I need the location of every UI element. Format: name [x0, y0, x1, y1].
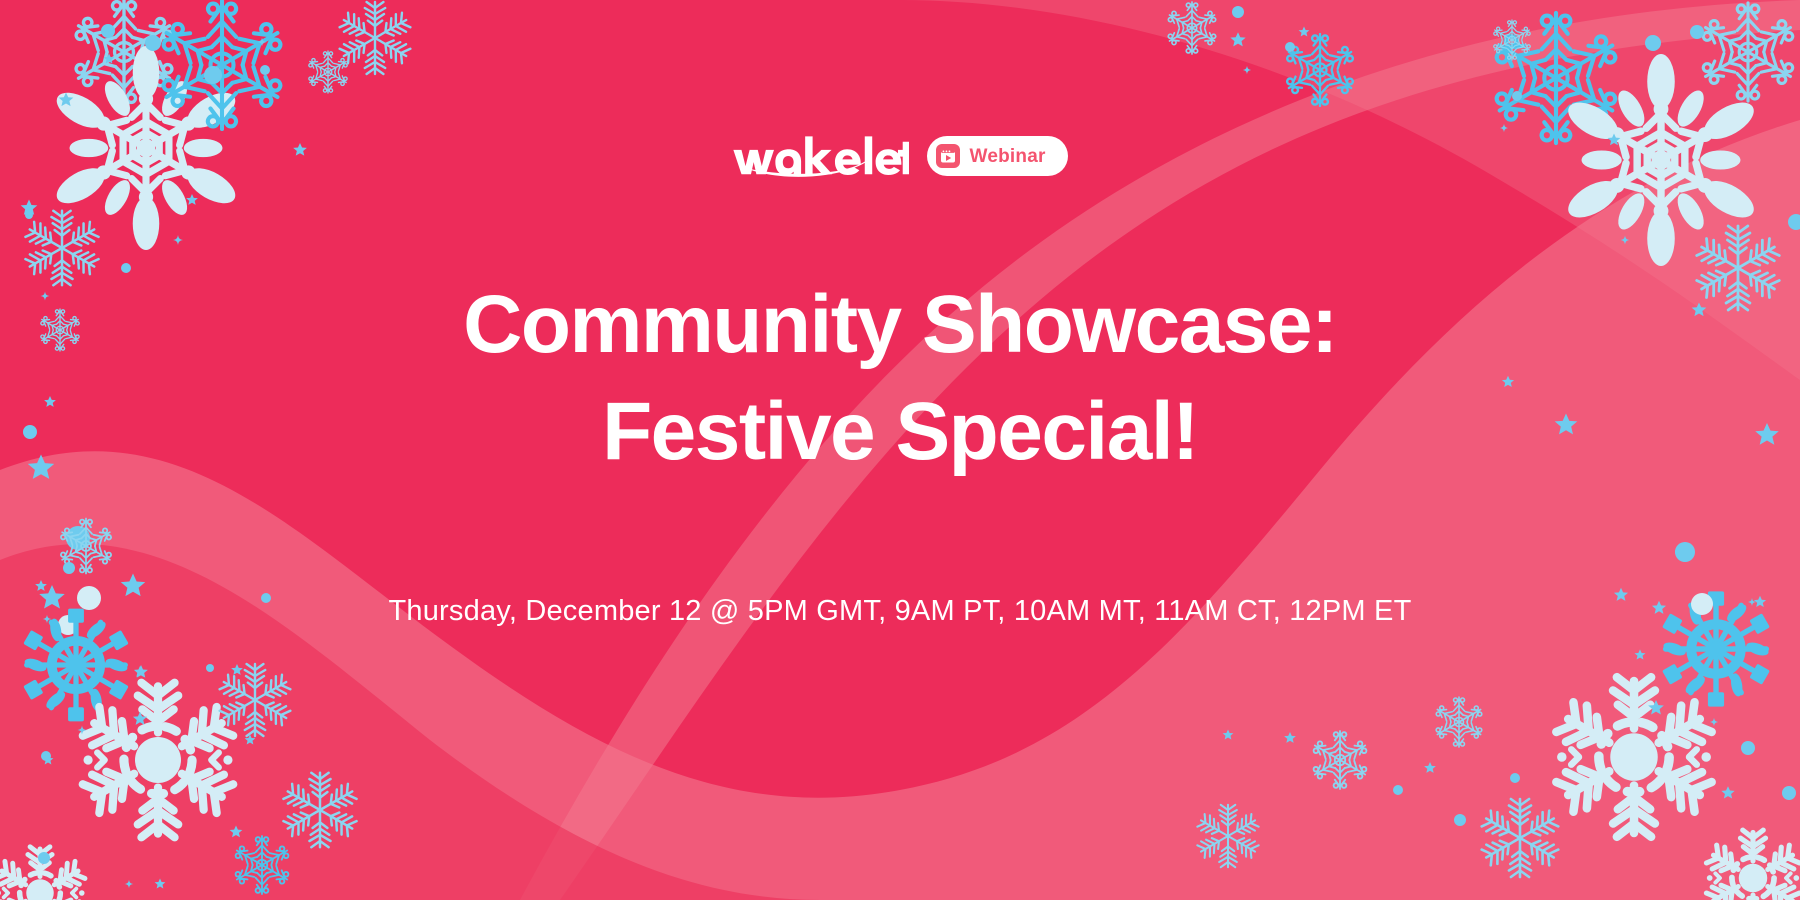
page-title: Community Showcase: Festive Special! — [463, 272, 1337, 485]
webinar-screen-play-icon — [935, 143, 961, 169]
schedule-text: Thursday, December 12 @ 5PM GMT, 9AM PT,… — [388, 595, 1411, 628]
headline-line-2: Festive Special! — [463, 379, 1337, 486]
brand-logo-row: Webinar — [732, 128, 1067, 184]
wakelet-wordmark — [732, 135, 908, 177]
headline-line-1: Community Showcase: — [463, 272, 1337, 379]
webinar-badge: Webinar — [927, 136, 1068, 176]
webinar-badge-label: Webinar — [970, 147, 1046, 166]
banner-content: Webinar Community Showcase: Festive Spec… — [0, 0, 1800, 900]
webinar-banner: Webinar Community Showcase: Festive Spec… — [0, 0, 1800, 900]
